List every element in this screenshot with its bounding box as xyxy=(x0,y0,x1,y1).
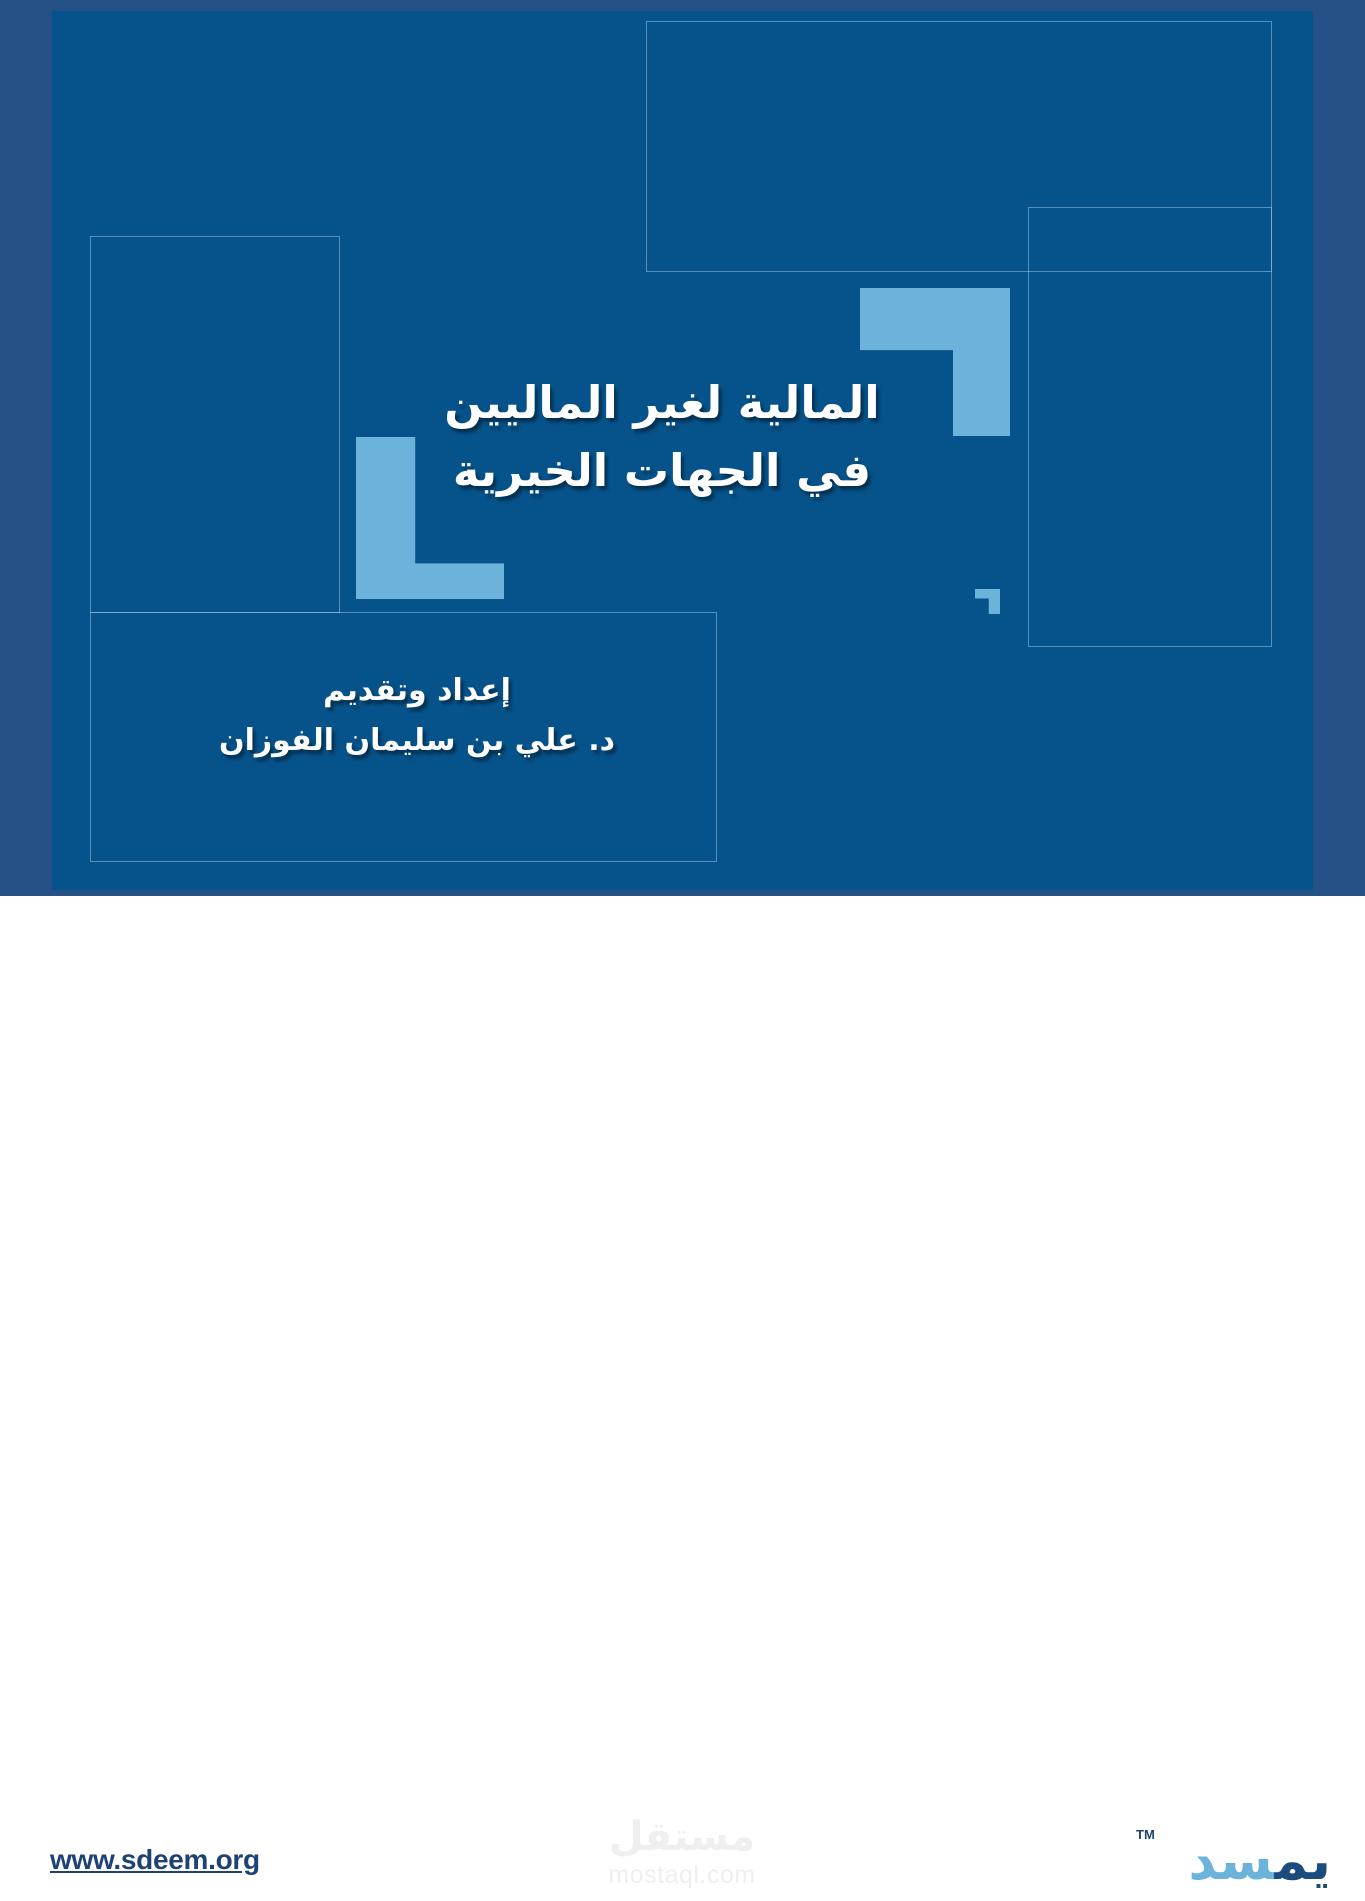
slide-root: المالية لغير الماليين في الجهات الخيرية … xyxy=(0,0,1365,1024)
sdeem-logo[interactable]: TM يمسد xyxy=(1118,1821,1333,1901)
mostaql-watermark-latin: mostaql.com xyxy=(582,1860,782,1890)
decor-outline-rect-top-right xyxy=(646,21,1272,272)
presenter-credit: إعداد وتقديم د. علي بن سليمان الفوزان xyxy=(107,666,727,766)
mostaql-watermark: مستقل mostaql.com xyxy=(582,1814,782,1890)
sdeem-wordmark-prefix: سد xyxy=(1188,1829,1274,1892)
sdeem-wordmark: يمسد xyxy=(1188,1829,1331,1893)
slide-title-line-2: في الجهات الخيرية xyxy=(212,437,1112,505)
sdeem-wordmark-suffix: يم xyxy=(1275,1829,1331,1892)
slide-title-line-1: المالية لغير الماليين xyxy=(212,369,1112,437)
trademark-icon: TM xyxy=(1136,1827,1155,1842)
website-url-link[interactable]: www.sdeem.org xyxy=(50,1844,260,1876)
footer-bar: www.sdeem.org مستقل mostaql.com TM يمسد xyxy=(0,896,1365,1024)
slide-canvas: المالية لغير الماليين في الجهات الخيرية … xyxy=(52,11,1313,890)
slide-title: المالية لغير الماليين في الجهات الخيرية xyxy=(212,369,1112,505)
presenter-name: د. علي بن سليمان الفوزان xyxy=(107,716,727,766)
mostaql-watermark-arabic: مستقل xyxy=(582,1814,782,1860)
decor-corner-block-small xyxy=(975,589,1000,614)
presenter-label: إعداد وتقديم xyxy=(107,666,727,716)
